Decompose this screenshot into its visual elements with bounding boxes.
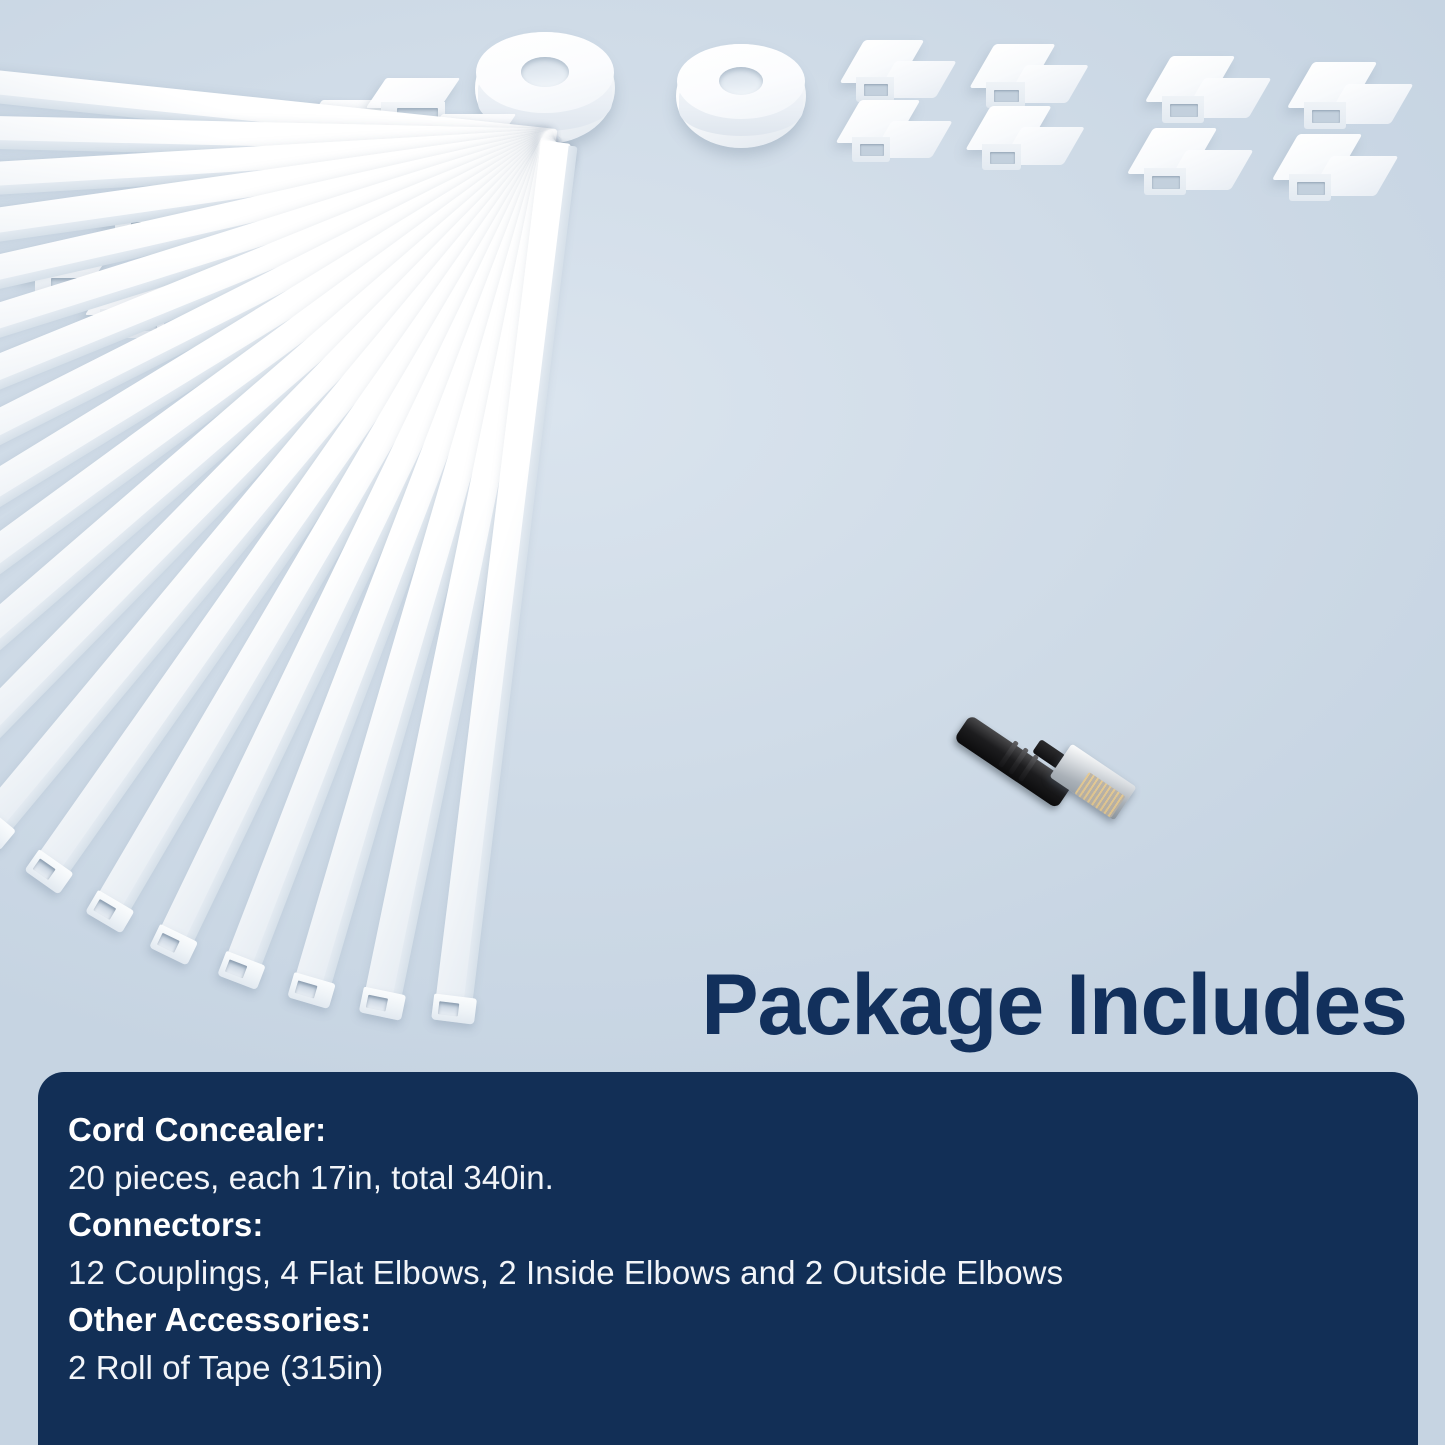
product-image-canvas: Package Includes Cord Concealer: 20 piec… <box>0 0 1445 1445</box>
panel-line: Cord Concealer: <box>68 1106 1418 1154</box>
panel-line: 12 Couplings, 4 Flat Elbows, 2 Inside El… <box>68 1249 1418 1297</box>
flat-elbow <box>1285 134 1389 214</box>
elbow-slot <box>860 144 885 156</box>
panel-line: 2 Roll of Tape (315in) <box>68 1344 1418 1392</box>
tape-roll <box>676 44 806 148</box>
elbow-slot <box>994 90 1019 102</box>
flat-elbow <box>1140 128 1244 208</box>
elbow-slot <box>1312 110 1339 123</box>
elbow-slot <box>1297 182 1324 195</box>
tape-roll-hole <box>521 57 569 87</box>
elbow-slot <box>864 84 889 96</box>
strip-channel <box>438 1002 459 1017</box>
elbow-slot <box>1170 104 1197 117</box>
flat-elbow <box>1300 62 1404 142</box>
page-title: Package Includes <box>701 962 1407 1048</box>
tape-roll-hole <box>719 67 763 95</box>
elbow-slot <box>990 152 1015 164</box>
package-includes-panel: Cord Concealer: 20 pieces, each 17in, to… <box>38 1072 1418 1445</box>
panel-line: Other Accessories: <box>68 1296 1418 1344</box>
ethernet-cable <box>962 706 1192 836</box>
panel-line: 20 pieces, each 17in, total 340in. <box>68 1154 1418 1202</box>
inside-elbow <box>848 100 944 174</box>
panel-line: Connectors: <box>68 1201 1418 1249</box>
elbow-slot <box>1152 176 1179 189</box>
flat-elbow <box>1158 56 1262 136</box>
outside-elbow <box>978 106 1076 182</box>
